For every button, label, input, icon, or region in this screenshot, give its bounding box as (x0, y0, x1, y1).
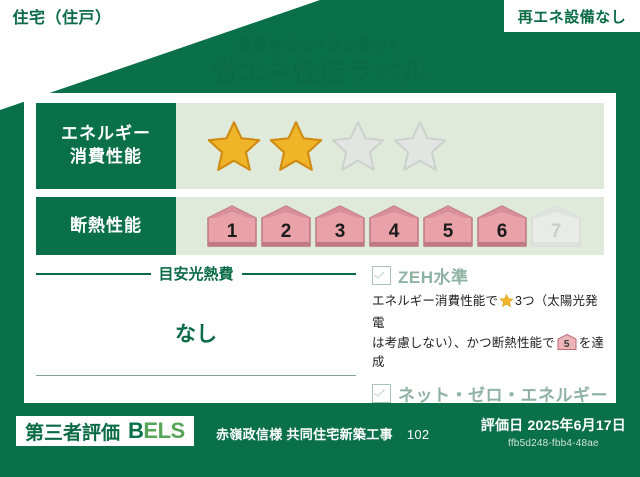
label-footer: 第三者評価 BELS 赤嶺政信様 共同住宅新築工事102 評価日 2025年6月… (0, 403, 640, 477)
evaluation-date-block: 評価日 2025年6月17日 ffb5d248-fbb4-48ae (481, 415, 626, 449)
utility-cost-underline (36, 375, 356, 376)
zeh-description: エネルギー消費性能で 3つ（太陽光発電 は考慮しない）、かつ断熱性能で 5 を達… (372, 292, 608, 373)
unit-number: 102 (407, 427, 430, 442)
energy-key-line-1: エネルギー (61, 123, 151, 146)
energy-performance-key: エネルギー 消費性能 (36, 103, 176, 189)
insulation-level-inactive: 7 (530, 204, 582, 248)
insulation-performance-row: 断熱性能 1234567 (36, 197, 604, 255)
insulation-level-scale: 1234567 (206, 204, 582, 248)
utility-cost-title: 目安光熱費 (159, 263, 234, 284)
rule-right (242, 273, 357, 275)
energy-performance-row: エネルギー 消費性能 (36, 103, 604, 189)
insulation-level-active: 4 (368, 204, 420, 248)
zeh-desc-part-1: エネルギー消費性能で (372, 294, 498, 308)
energy-key-line-2: 消費性能 (70, 146, 142, 169)
star-rating (206, 118, 448, 174)
evaluation-date-line: 評価日 2025年6月17日 (481, 415, 626, 435)
zeh-block: ZEH水準 エネルギー消費性能で 3つ（太陽光発電 は考慮しない）、かつ断熱性能… (372, 263, 608, 410)
owner-name: 赤嶺政信様 共同住宅新築工事 (216, 427, 393, 442)
bels-badge: 第三者評価 BELS (16, 416, 194, 446)
insulation-performance-value: 1234567 (176, 197, 604, 255)
bels-letters-els: ELS (143, 418, 184, 443)
evaluation-date-value: 2025年6月17日 (527, 417, 626, 433)
zeh-desc-part-3: は考慮しない）、かつ断熱性能で (372, 336, 555, 350)
inline-house-badge-number: 5 (557, 337, 577, 353)
inline-star-icon (499, 293, 514, 314)
rule-left (36, 273, 151, 275)
net-zero-energy-checkbox-icon[interactable] (372, 384, 391, 403)
energy-performance-label: 住宅（住戸） 再エネ設備なし 建築物省エネ法に基づく 省エネ性能ラベル エネルギ… (0, 0, 640, 477)
utility-cost-value: なし (36, 318, 356, 348)
label-heading: 建築物省エネ法に基づく 省エネ性能ラベル (0, 38, 640, 89)
bels-letter-b: B (128, 418, 143, 443)
page-title: 省エネ性能ラベル (0, 56, 640, 89)
zeh-standard-label: ZEH水準 (398, 263, 469, 288)
insulation-level-active: 5 (422, 204, 474, 248)
building-type-chip: 住宅（住戸） (0, 0, 124, 32)
star-filled-icon (268, 118, 324, 174)
inline-house-badge-icon: 5 (557, 334, 577, 350)
renewable-equipment-label: 再エネ設備なし (518, 6, 627, 27)
insulation-level-active: 1 (206, 204, 258, 248)
insulation-key-label: 断熱性能 (70, 215, 142, 238)
owner-project-text: 赤嶺政信様 共同住宅新築工事102 (216, 424, 429, 443)
star-empty-icon (392, 118, 448, 174)
evaluation-date-label: 評価日 (481, 417, 524, 433)
net-zero-energy-label: ネット・ゼロ・エネルギー (398, 381, 608, 406)
energy-performance-value (176, 103, 604, 189)
utility-cost-heading: 目安光熱費 (36, 263, 356, 284)
star-filled-icon (206, 118, 262, 174)
document-id: ffb5d248-fbb4-48ae (481, 438, 626, 449)
star-empty-icon (330, 118, 386, 174)
zeh-standard-checkbox-icon[interactable] (372, 266, 391, 285)
net-zero-energy-row: ネット・ゼロ・エネルギー (372, 381, 608, 406)
renewable-equipment-chip: 再エネ設備なし (504, 0, 640, 32)
utility-cost-block: 目安光熱費 なし (36, 263, 356, 348)
building-type-label: 住宅（住戸） (12, 4, 111, 28)
insulation-level-active: 6 (476, 204, 528, 248)
label-lower-section: 目安光熱費 なし ZEH水準 エネルギー消費性能で (24, 263, 616, 403)
insulation-level-active: 3 (314, 204, 366, 248)
insulation-performance-key: 断熱性能 (36, 197, 176, 255)
zeh-standard-row: ZEH水準 (372, 263, 608, 288)
bels-jp-label: 第三者評価 (25, 418, 120, 445)
heading-subtitle: 建築物省エネ法に基づく (0, 38, 640, 53)
label-card: エネルギー 消費性能 断熱性能 1234567 目安光熱費 (24, 93, 616, 403)
bels-en-label: BELS (128, 418, 185, 444)
insulation-level-active: 2 (260, 204, 312, 248)
